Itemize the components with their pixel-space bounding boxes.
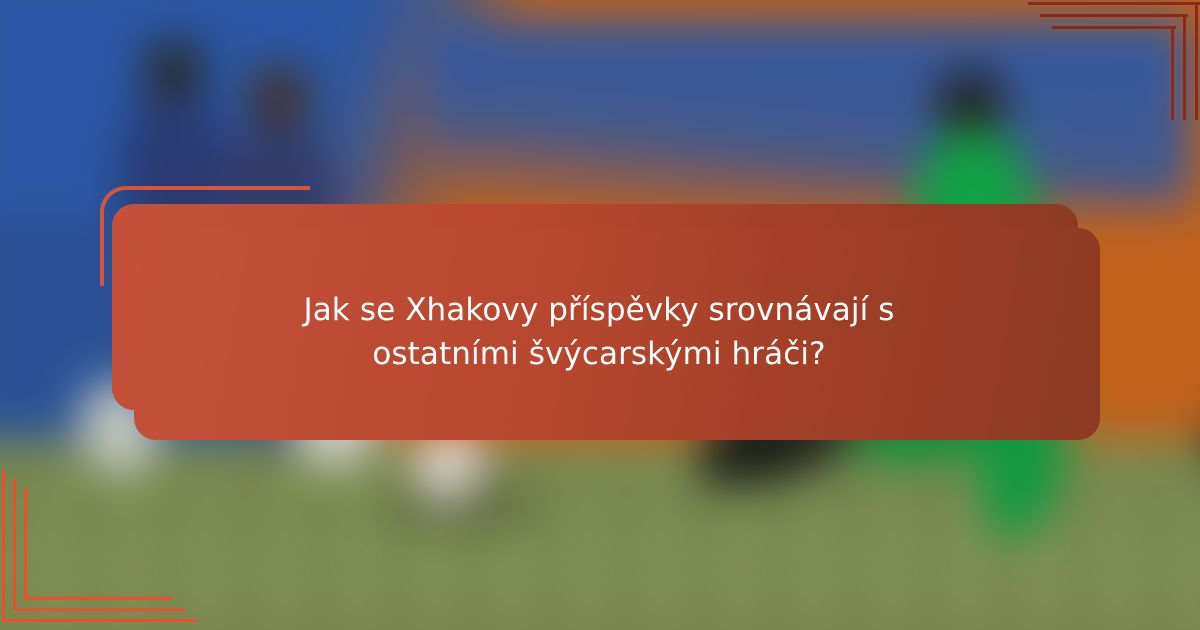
headline-card: Jak se Xhakovy příspěvky srovnávají s os… <box>134 228 1100 440</box>
page-title: Jak se Xhakovy příspěvky srovnávají s os… <box>249 288 949 376</box>
social-card-canvas: Jak se Xhakovy příspěvky srovnávají s os… <box>0 0 1200 630</box>
